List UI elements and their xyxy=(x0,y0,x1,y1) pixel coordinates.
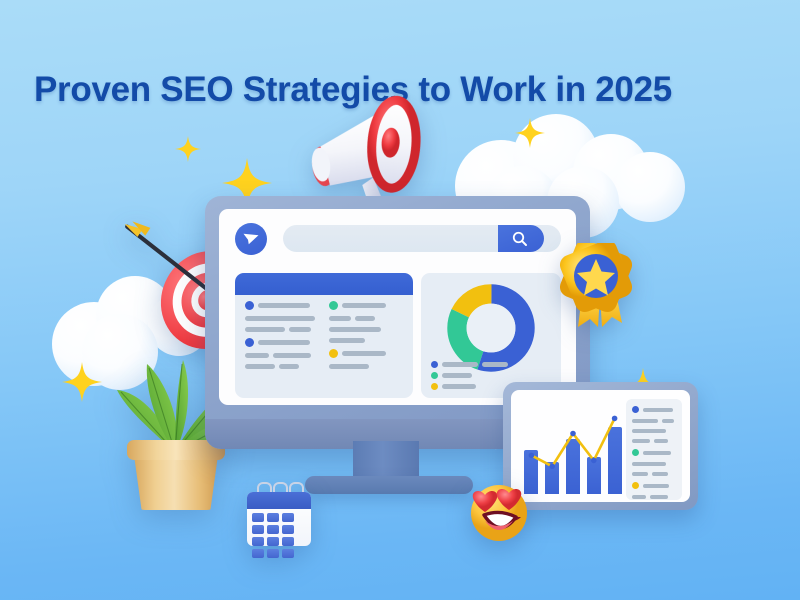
text-placeholder-bar xyxy=(245,327,285,332)
magnifier-icon xyxy=(511,230,529,248)
legend-dot xyxy=(431,383,438,390)
text-placeholder-bar xyxy=(245,364,275,369)
calendar-date-cell[interactable] xyxy=(267,537,279,546)
calendar-icon xyxy=(243,478,315,550)
monitor-screen xyxy=(219,209,576,405)
list-item xyxy=(632,406,676,413)
text-placeholder-bar xyxy=(329,316,351,321)
list-item xyxy=(632,462,676,466)
text-placeholder-bar xyxy=(279,364,299,369)
calendar-date-cell[interactable] xyxy=(282,549,294,558)
legend-label-bar xyxy=(442,384,476,389)
text-placeholder-bar xyxy=(342,351,386,356)
list-item xyxy=(632,449,676,456)
text-placeholder-bar xyxy=(289,327,311,332)
list-item xyxy=(632,482,676,489)
tablet-side-panel xyxy=(626,399,682,500)
text-placeholder-bar xyxy=(245,316,315,321)
poster-canvas: Proven SEO Strategies to Work in 2025 xyxy=(0,0,800,600)
trend-point xyxy=(529,453,535,459)
list-item xyxy=(245,364,319,369)
text-placeholder-bar xyxy=(258,340,310,345)
calendar-date-grid xyxy=(252,513,306,558)
text-placeholder-bar xyxy=(329,338,365,343)
calendar-date-cell[interactable] xyxy=(267,525,279,534)
calendar-date-cell[interactable] xyxy=(282,525,294,534)
text-placeholder-bar xyxy=(273,353,311,358)
sparkle-star-icon xyxy=(62,362,102,402)
list-item xyxy=(245,353,319,358)
legend-dot xyxy=(431,361,438,368)
sparkle-star-icon xyxy=(175,136,201,162)
browser-toolbar xyxy=(219,209,576,267)
calendar-date-cell[interactable] xyxy=(252,549,264,558)
legend-item xyxy=(431,372,555,379)
calendar-date-cell[interactable] xyxy=(267,549,279,558)
text-placeholder-bar xyxy=(643,451,671,455)
award-rosette-icon xyxy=(560,243,632,329)
list-item xyxy=(329,316,403,321)
list-item xyxy=(329,349,403,358)
text-placeholder-bar xyxy=(652,472,668,476)
results-column-right xyxy=(329,301,403,375)
list-item xyxy=(245,327,319,332)
list-item xyxy=(632,439,676,443)
text-placeholder-bar xyxy=(632,439,650,443)
text-placeholder-bar xyxy=(643,484,669,488)
list-item xyxy=(245,316,319,321)
text-placeholder-bar xyxy=(245,353,269,358)
text-placeholder-bar xyxy=(632,472,648,476)
text-placeholder-bar xyxy=(342,303,386,308)
bullet-dot xyxy=(632,449,639,456)
text-placeholder-bar xyxy=(258,303,310,308)
calendar-date-cell[interactable] xyxy=(282,513,294,522)
text-placeholder-bar xyxy=(632,462,666,466)
bullet-dot xyxy=(329,349,338,358)
trend-point xyxy=(549,464,555,470)
legend-label-bar xyxy=(442,362,478,367)
results-column-left xyxy=(245,301,319,375)
list-item xyxy=(632,495,676,499)
bullet-dot xyxy=(245,301,254,310)
calendar-date-cell[interactable] xyxy=(252,525,264,534)
trend-point xyxy=(570,431,576,437)
list-item xyxy=(245,301,319,310)
monitor-stand-base xyxy=(305,476,473,494)
bullet-dot xyxy=(632,406,639,413)
text-placeholder-bar xyxy=(632,419,658,423)
list-item xyxy=(632,429,676,433)
calendar-date-cell[interactable] xyxy=(267,513,279,522)
send-plane-icon[interactable] xyxy=(235,223,267,255)
bullet-dot xyxy=(245,338,254,347)
calendar-date-cell[interactable] xyxy=(252,537,264,546)
text-placeholder-bar xyxy=(632,429,666,433)
list-item xyxy=(245,338,319,347)
text-placeholder-bar xyxy=(329,327,381,332)
text-placeholder-bar xyxy=(662,419,674,423)
search-button[interactable] xyxy=(498,225,544,252)
calendar-date-cell[interactable] xyxy=(282,537,294,546)
bullet-dot xyxy=(329,301,338,310)
trend-line-chart xyxy=(521,410,625,494)
text-placeholder-bar xyxy=(643,408,673,412)
list-item xyxy=(632,419,676,423)
text-placeholder-bar xyxy=(329,364,369,369)
donut-chart-panel xyxy=(421,273,561,398)
legend-item xyxy=(431,361,555,368)
trend-point xyxy=(591,458,597,464)
list-item xyxy=(329,364,403,369)
legend-dot xyxy=(431,372,438,379)
calendar-header xyxy=(247,492,311,509)
list-item xyxy=(329,301,403,310)
legend-label-bar xyxy=(442,373,472,378)
text-placeholder-bar xyxy=(654,439,668,443)
list-item xyxy=(329,338,403,343)
panel-header-bar xyxy=(235,273,413,295)
legend-label-bar xyxy=(482,362,508,367)
heart-eyes-emoji-icon xyxy=(465,477,533,545)
trend-point xyxy=(612,416,618,422)
search-results-panel xyxy=(235,273,413,398)
bullet-dot xyxy=(632,482,639,489)
list-item xyxy=(329,327,403,332)
list-item xyxy=(632,472,676,476)
calendar-date-cell[interactable] xyxy=(252,513,264,522)
text-placeholder-bar xyxy=(632,495,646,499)
sparkle-star-icon xyxy=(515,118,545,148)
text-placeholder-bar xyxy=(355,316,375,321)
tablet-screen xyxy=(511,390,690,502)
text-placeholder-bar xyxy=(650,495,668,499)
